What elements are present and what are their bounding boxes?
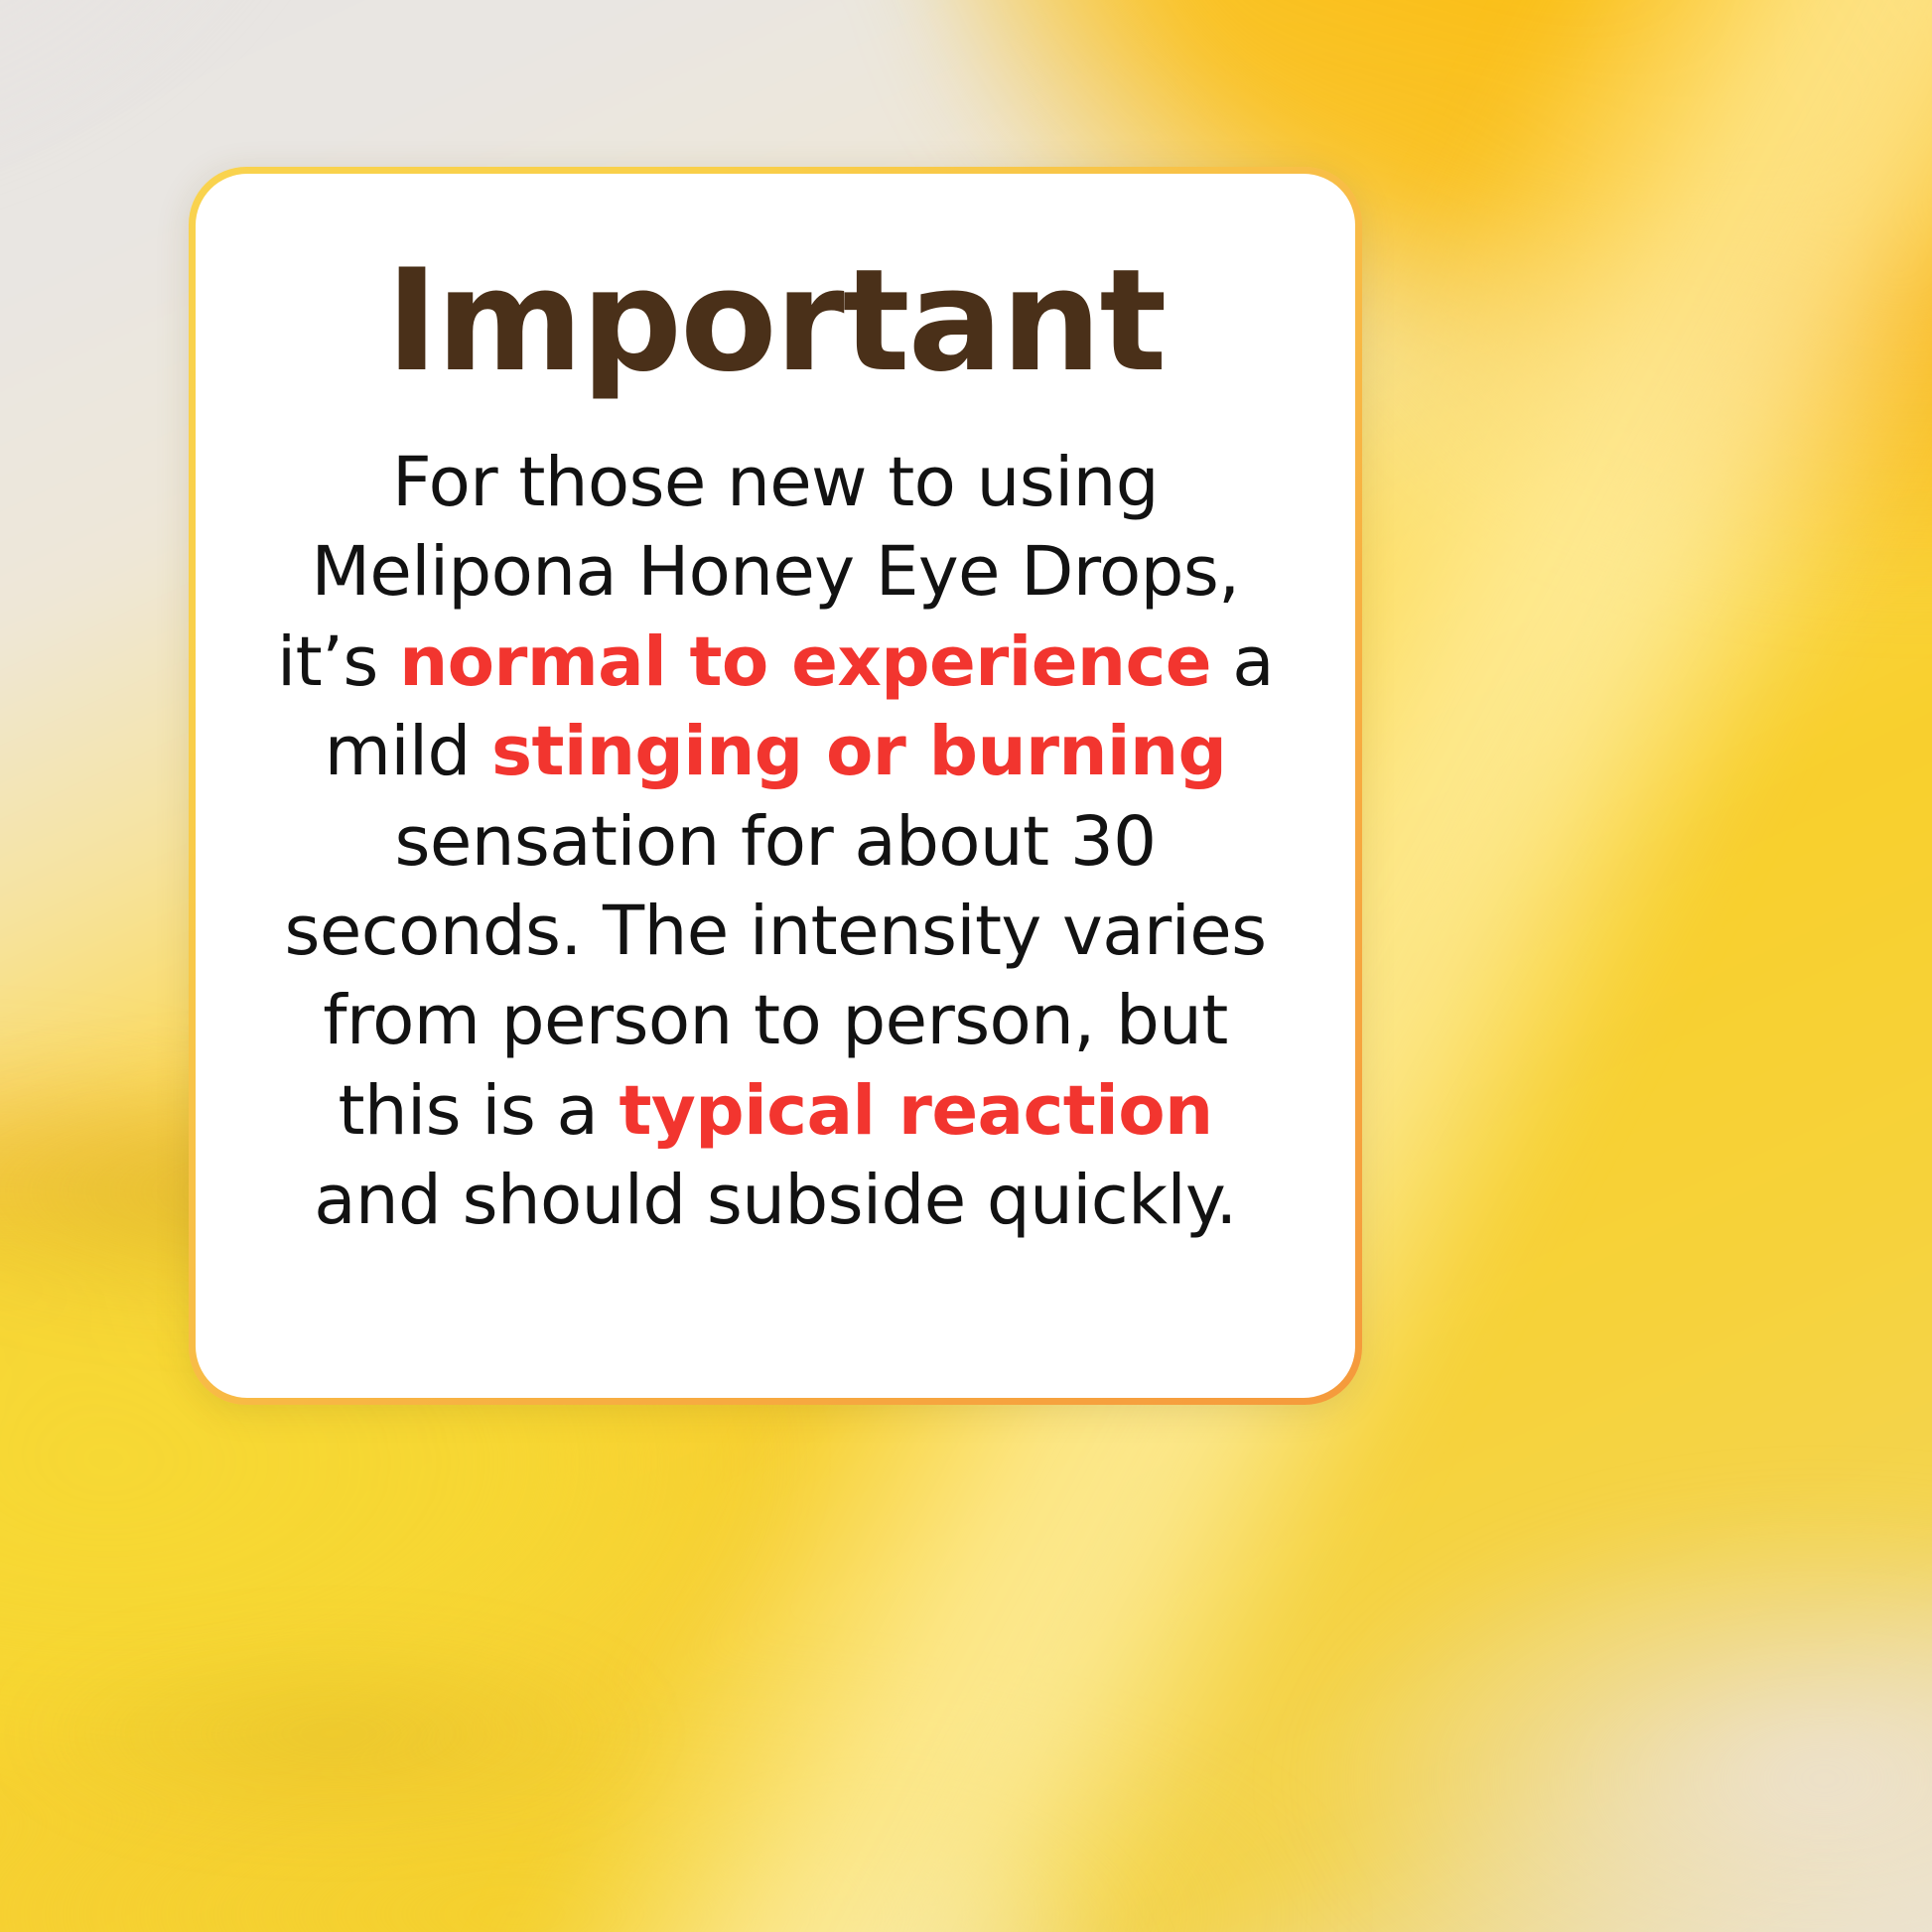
card-inner: Important For those new to using Melipon… — [196, 174, 1355, 1398]
body-text-run-6: and should subside quickly. — [314, 1161, 1237, 1240]
highlighted-phrase-5: typical reaction — [620, 1071, 1213, 1151]
info-card: Important For those new to using Melipon… — [189, 167, 1362, 1405]
card-gradient-border: Important For those new to using Melipon… — [189, 167, 1362, 1405]
card-title: Important — [386, 251, 1166, 392]
card-body-text: For those new to using Melipona Honey Ey… — [274, 438, 1277, 1245]
highlighted-phrase-3: stinging or burning — [491, 712, 1226, 791]
highlighted-phrase-1: normal to experience — [399, 622, 1211, 702]
